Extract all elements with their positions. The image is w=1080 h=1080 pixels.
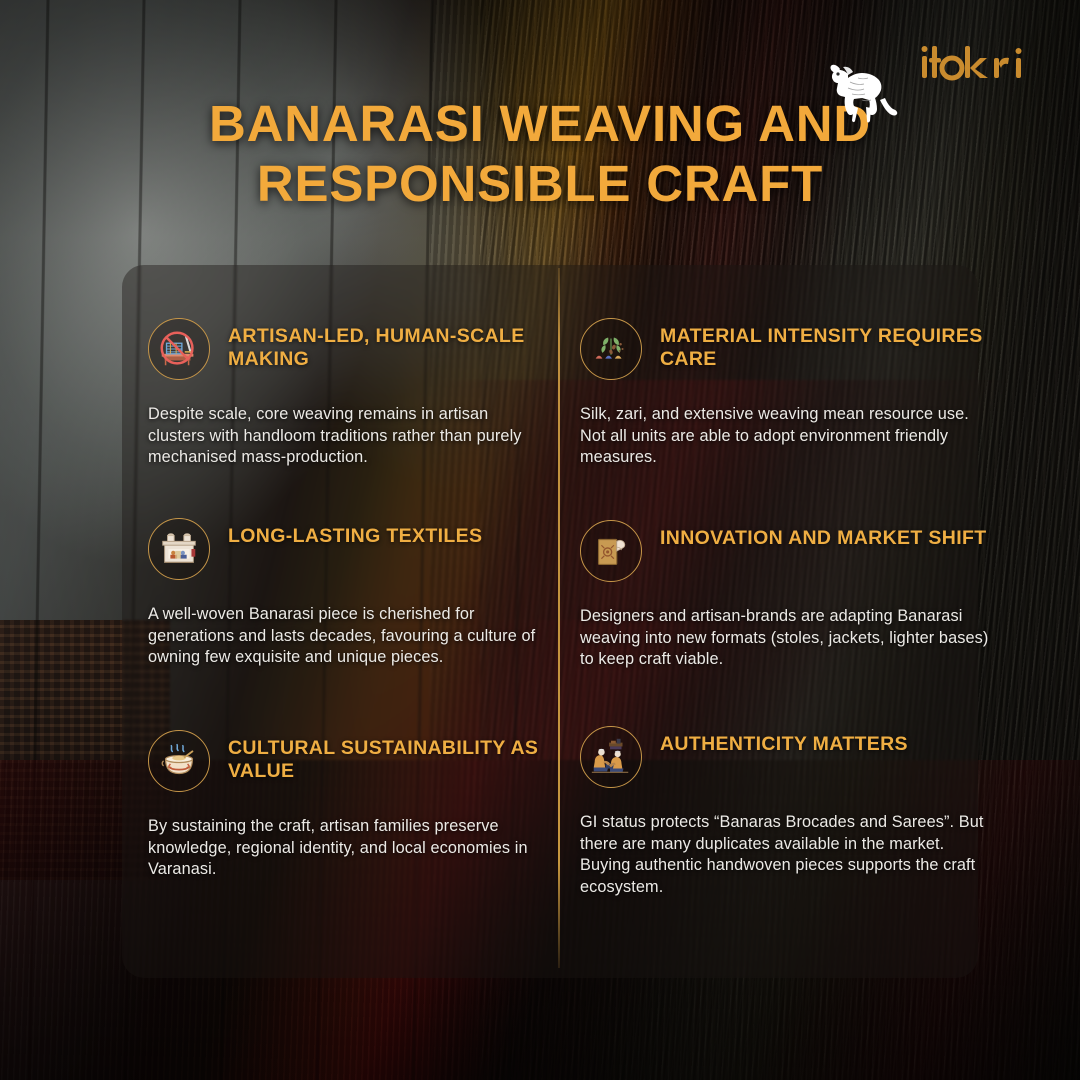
card-title: INNOVATION AND MARKET SHIFT: [660, 520, 987, 550]
hand-holding-block-print-icon: [580, 520, 642, 582]
card-body: Silk, zari, and extensive weaving mean r…: [580, 404, 992, 469]
artisan-shopfront-icon: [148, 518, 210, 580]
brand-logo[interactable]: [918, 42, 1038, 86]
card-body: By sustaining the craft, artisan familie…: [148, 816, 550, 881]
card-long-lasting-textiles: LONG-LASTING TEXTILES A well-woven Banar…: [148, 518, 548, 669]
card-header: AUTHENTICITY MATTERS: [580, 726, 992, 788]
card-title: ARTISAN-LED, HUMAN-SCALE MAKING: [228, 318, 548, 372]
card-body: Despite scale, core weaving remains in a…: [148, 404, 544, 469]
card-title: MATERIAL INTENSITY REQUIRES CARE: [660, 318, 992, 372]
card-authenticity-matters: AUTHENTICITY MATTERS GI status protects …: [580, 726, 992, 899]
card-body: GI status protects “Banaras Brocades and…: [580, 812, 992, 899]
no-powerloom-icon: [148, 318, 210, 380]
card-cultural-sustainability: CULTURAL SUSTAINABILITY AS VALUE By sust…: [148, 730, 548, 881]
card-title: LONG-LASTING TEXTILES: [228, 518, 482, 548]
goat-illustration-icon: [818, 48, 910, 128]
page-title-line-1: BANARASI WEAVING AND: [209, 95, 871, 152]
steaming-dye-pot-icon: [148, 730, 210, 792]
column-divider: [558, 268, 560, 968]
card-header: ARTISAN-LED, HUMAN-SCALE MAKING: [148, 318, 548, 380]
card-title: AUTHENTICITY MATTERS: [660, 726, 908, 756]
card-artisan-led: ARTISAN-LED, HUMAN-SCALE MAKING Despite …: [148, 318, 548, 469]
natural-dye-leaves-icon: [580, 318, 642, 380]
page-title: BANARASI WEAVING AND RESPONSIBLE CRAFT: [0, 94, 1080, 213]
card-innovation-market-shift: INNOVATION AND MARKET SHIFT Designers an…: [580, 520, 992, 671]
card-header: LONG-LASTING TEXTILES: [148, 518, 548, 580]
page-title-line-2: RESPONSIBLE CRAFT: [0, 154, 1080, 214]
card-material-intensity: MATERIAL INTENSITY REQUIRES CARE Silk, z…: [580, 318, 992, 469]
card-body: A well-woven Banarasi piece is cherished…: [148, 604, 544, 669]
card-body: Designers and artisan-brands are adaptin…: [580, 606, 992, 671]
card-header: INNOVATION AND MARKET SHIFT: [580, 520, 992, 582]
card-header: CULTURAL SUSTAINABILITY AS VALUE: [148, 730, 548, 792]
card-header: MATERIAL INTENSITY REQUIRES CARE: [580, 318, 992, 380]
two-seated-artisans-icon: [580, 726, 642, 788]
card-title: CULTURAL SUSTAINABILITY AS VALUE: [228, 730, 548, 784]
header: BANARASI WEAVING AND RESPONSIBLE CRAFT: [0, 0, 1080, 250]
